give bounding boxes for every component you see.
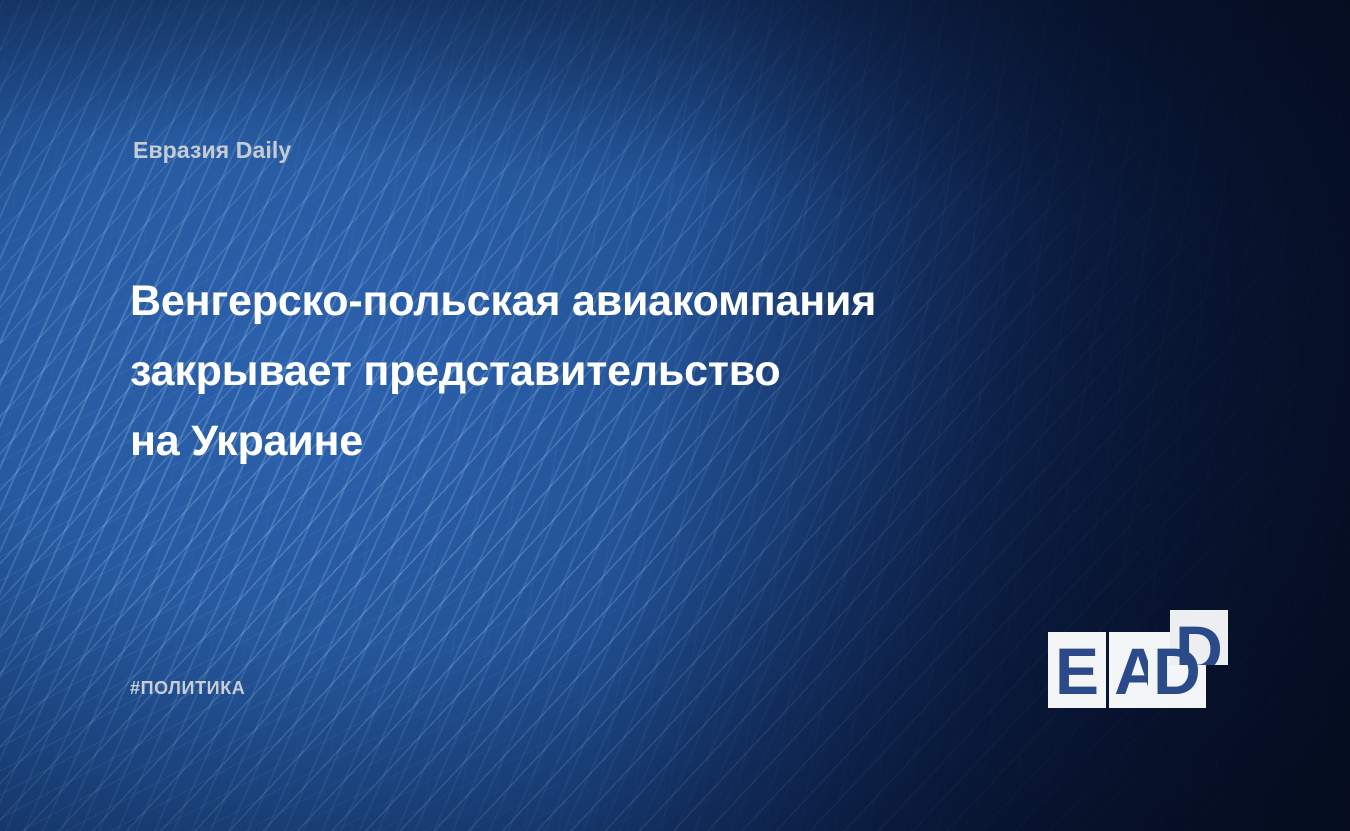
svg-text:D: D — [1153, 634, 1201, 708]
category-tag[interactable]: #ПОЛИТИКА — [130, 678, 245, 699]
logo-letter-d-lower: D — [1153, 634, 1201, 708]
logo-tile-e: E — [1048, 632, 1106, 708]
svg-text:E: E — [1055, 634, 1099, 708]
headline-line-1: Венгерско-польская авиакомпания — [130, 266, 1140, 336]
headline-line-3: на Украине — [130, 406, 1140, 476]
card-content: Евразия Daily Венгерско-польская авиаком… — [0, 0, 1350, 831]
headline-line-2: закрывает представительство — [130, 336, 1140, 406]
news-share-card: Евразия Daily Венгерско-польская авиаком… — [0, 0, 1350, 831]
brand-name: Евразия Daily — [133, 137, 291, 164]
page-title: Венгерско-польская авиакомпания закрывае… — [130, 266, 1140, 476]
ead-logo: E A D — [1048, 610, 1228, 720]
